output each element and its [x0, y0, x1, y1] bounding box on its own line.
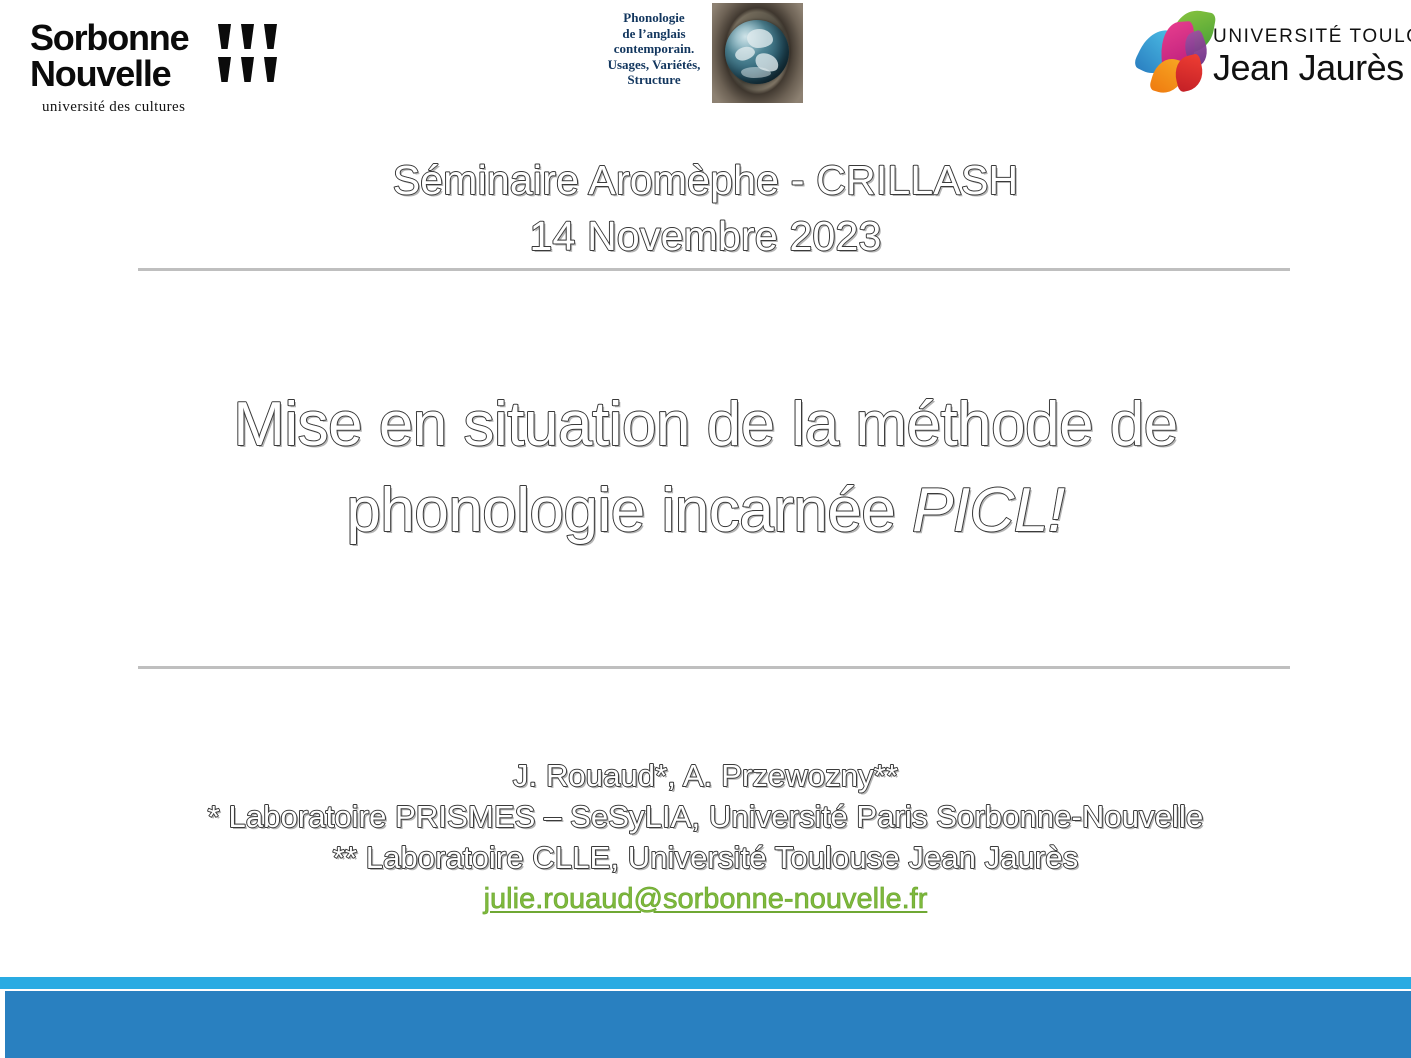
sorbonne-nouvelle-logo: Sorbonne Nouvelle université des culture… — [30, 20, 280, 115]
toulouse-line-1: UNIVERSITÉ TOULOUSE — [1213, 26, 1411, 48]
toulouse-swirl-icon — [1139, 10, 1217, 98]
sorbonne-tagline: université des cultures — [42, 99, 212, 116]
page-title-line-2: phonologie incarnée PICL! — [120, 468, 1291, 554]
sorbonne-line-2: Nouvelle — [30, 56, 212, 92]
seminar-heading: Séminaire Aromèphe - CRILLASH 14 Novembr… — [0, 152, 1411, 264]
author-names: J. Rouaud*, A. Przewozny** — [0, 755, 1411, 796]
book-line-2: de l’anglais — [598, 26, 710, 42]
earth-globe-image — [712, 3, 803, 103]
affiliation-2: ** Laboratoire CLLE, Université Toulouse… — [0, 837, 1411, 878]
toulouse-jean-jaures-logo: UNIVERSITÉ TOULOUSE Jean Jaurès — [1139, 8, 1389, 108]
book-line-5: Structure — [598, 72, 710, 88]
seminar-name: Séminaire Aromèphe - CRILLASH — [0, 152, 1411, 208]
page-title-acronym: PICL! — [912, 476, 1065, 545]
sorbonne-wordmark: Sorbonne Nouvelle université des culture… — [30, 20, 212, 116]
page-title-line-2-prefix: phonologie incarnée — [346, 476, 912, 545]
logo-bar: Sorbonne Nouvelle université des culture… — [0, 0, 1411, 118]
divider-top — [138, 268, 1290, 271]
book-line-1: Phonologie — [598, 10, 710, 26]
book-line-3: contemporain. — [598, 41, 710, 57]
book-line-4: Usages, Variétés, — [598, 57, 710, 73]
affiliation-1: * Laboratoire PRISMES – SeSyLIA, Univers… — [0, 796, 1411, 837]
phonologie-book-logo: Phonologie de l’anglais contemporain. Us… — [598, 2, 803, 106]
sorbonne-chevron-marks-icon — [218, 24, 288, 88]
footer-band-light — [0, 977, 1411, 989]
toulouse-line-2: Jean Jaurès — [1213, 49, 1411, 87]
divider-bottom — [138, 666, 1290, 669]
globe-icon — [725, 20, 789, 84]
book-title-text: Phonologie de l’anglais contemporain. Us… — [598, 10, 710, 88]
authors-block: J. Rouaud*, A. Przewozny** * Laboratoire… — [0, 755, 1411, 920]
sorbonne-line-1: Sorbonne — [30, 20, 212, 56]
page-title: Mise en situation de la méthode de phono… — [120, 382, 1291, 554]
footer-band-dark — [5, 991, 1411, 1058]
contact-email-link[interactable]: julie.rouaud@sorbonne-nouvelle.fr — [0, 878, 1411, 920]
seminar-date: 14 Novembre 2023 — [0, 208, 1411, 264]
page-title-line-1: Mise en situation de la méthode de — [120, 382, 1291, 468]
toulouse-wordmark: UNIVERSITÉ TOULOUSE Jean Jaurès — [1213, 26, 1411, 87]
